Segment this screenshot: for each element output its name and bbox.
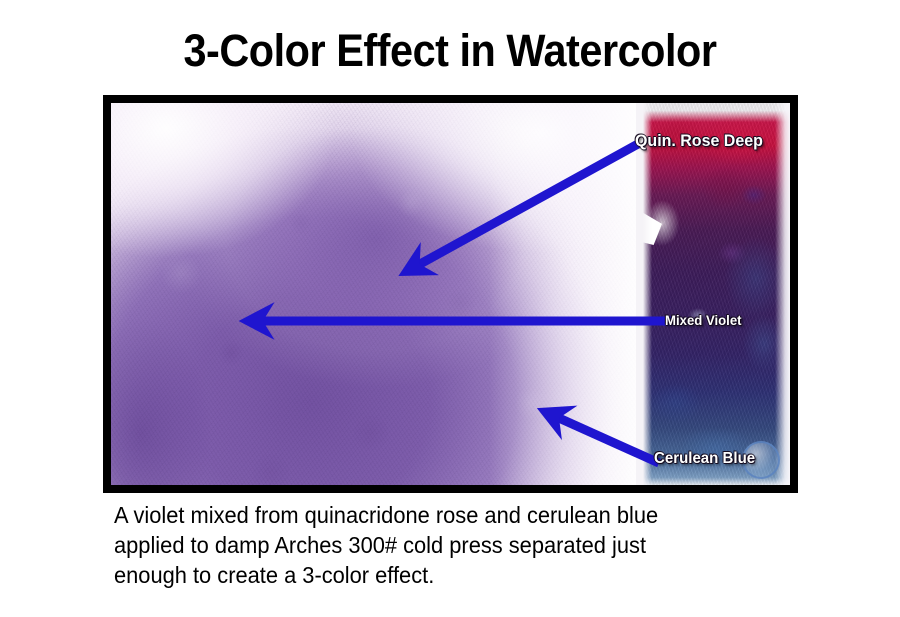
- caption-line-3: enough to create a 3-color effect.: [114, 560, 779, 590]
- label-quin-rose-deep: Quin. Rose Deep: [635, 131, 763, 151]
- caption-line-2: applied to damp Arches 300# cold press s…: [114, 530, 779, 560]
- label-mixed-violet: Mixed Violet: [665, 312, 742, 328]
- wash-right-fade: [111, 103, 636, 485]
- page-title: 3-Color Effect in Watercolor: [36, 28, 864, 73]
- paint-swatch-strip: [636, 103, 790, 485]
- figure-frame: Quin. Rose Deep Mixed Violet Cerulean Bl…: [103, 95, 798, 493]
- label-cerulean-blue: Cerulean Blue: [654, 450, 755, 468]
- caption-line-1: A violet mixed from quinacridone rose an…: [114, 500, 779, 530]
- figure-caption: A violet mixed from quinacridone rose an…: [114, 500, 779, 590]
- swatch-right-paper-edge: [636, 103, 790, 485]
- watercolor-photo: Quin. Rose Deep Mixed Violet Cerulean Bl…: [111, 103, 790, 485]
